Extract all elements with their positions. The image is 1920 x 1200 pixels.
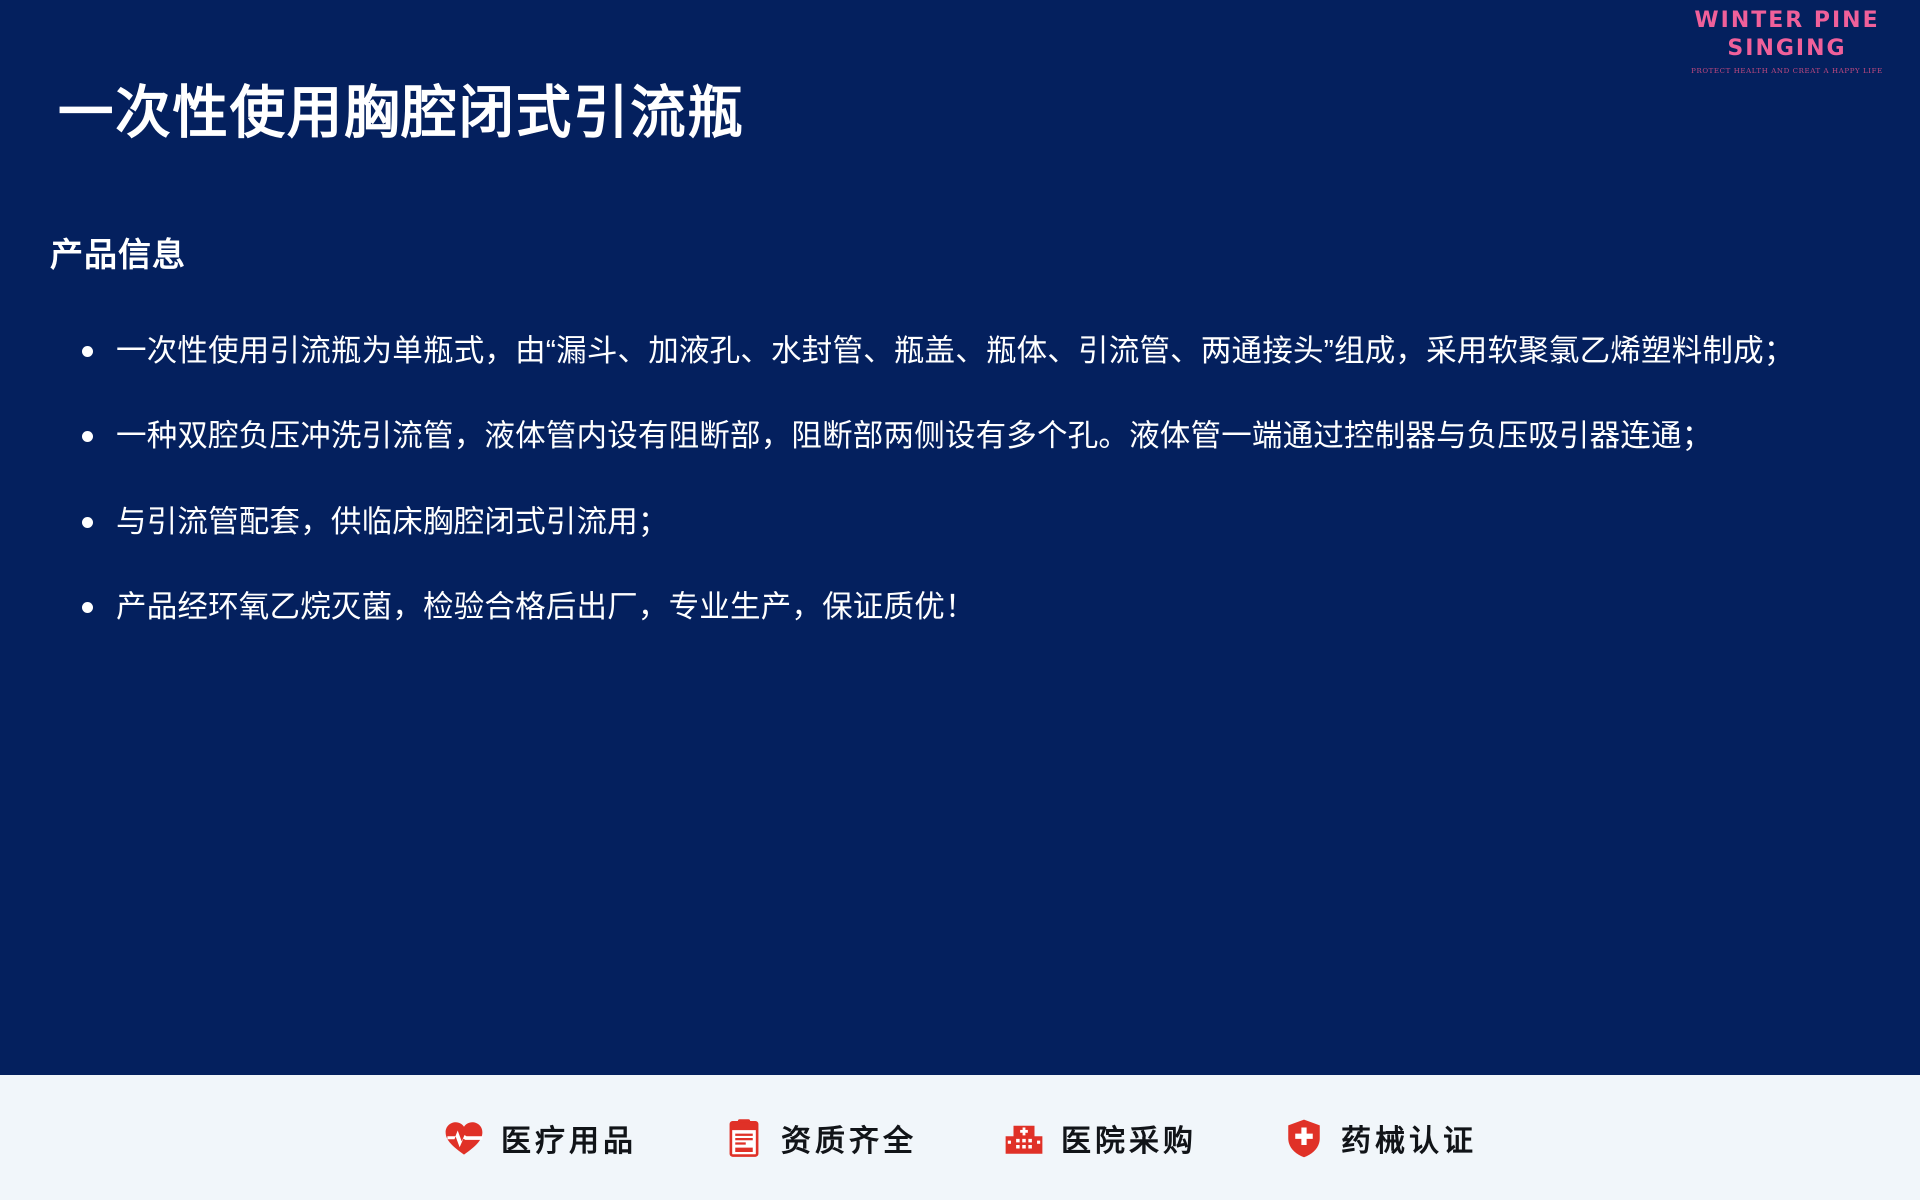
bullet-dot-icon bbox=[82, 602, 93, 613]
list-item: 产品经环氧乙烷灭菌，检验合格后出厂，专业生产，保证质优！ bbox=[58, 584, 1868, 631]
badge-label: 医院采购 bbox=[1061, 1116, 1197, 1160]
list-item: 与引流管配套，供临床胸腔闭式引流用； bbox=[58, 499, 1868, 546]
main-panel: WINTER PINE SINGING PROTECT HEALTH AND C… bbox=[0, 0, 1920, 1075]
badge-medical-supplies: 医疗用品 bbox=[443, 1116, 637, 1160]
brand-logo: WINTER PINE SINGING PROTECT HEALTH AND C… bbox=[1682, 10, 1892, 75]
hospital-icon bbox=[1003, 1117, 1045, 1159]
brand-line-2: SINGING bbox=[1682, 38, 1892, 60]
bullet-dot-icon bbox=[82, 517, 93, 528]
heart-pulse-icon bbox=[443, 1117, 485, 1159]
bullet-dot-icon bbox=[82, 346, 93, 357]
badge-device-certification: 药械认证 bbox=[1283, 1116, 1477, 1160]
badge-hospital-procurement: 医院采购 bbox=[1003, 1116, 1197, 1160]
list-item: 一种双腔负压冲洗引流管，液体管内设有阻断部，阻断部两侧设有多个孔。液体管一端通过… bbox=[58, 413, 1868, 460]
bullet-dot-icon bbox=[82, 431, 93, 442]
slide-root: WINTER PINE SINGING PROTECT HEALTH AND C… bbox=[0, 0, 1920, 1200]
product-info-list: 一次性使用引流瓶为单瓶式，由“漏斗、加液孔、水封管、瓶盖、瓶体、引流管、两通接头… bbox=[58, 328, 1868, 631]
shield-cross-icon bbox=[1283, 1117, 1325, 1159]
badge-qualifications: 资质齐全 bbox=[723, 1116, 917, 1160]
section-heading-product-info: 产品信息 bbox=[50, 235, 186, 275]
page-title: 一次性使用胸腔闭式引流瓶 bbox=[58, 82, 745, 146]
clipboard-icon bbox=[723, 1117, 765, 1159]
list-item-text: 产品经环氧乙烷灭菌，检验合格后出厂，专业生产，保证质优！ bbox=[116, 584, 1868, 631]
brand-tagline: PROTECT HEALTH AND CREAT A HAPPY LIFE bbox=[1682, 68, 1892, 74]
badge-label: 资质齐全 bbox=[781, 1116, 917, 1160]
list-item-text: 一次性使用引流瓶为单瓶式，由“漏斗、加液孔、水封管、瓶盖、瓶体、引流管、两通接头… bbox=[116, 328, 1868, 375]
badge-label: 药械认证 bbox=[1341, 1116, 1477, 1160]
footer-badge-bar: 医疗用品 资质齐全 bbox=[0, 1075, 1920, 1200]
list-item: 一次性使用引流瓶为单瓶式，由“漏斗、加液孔、水封管、瓶盖、瓶体、引流管、两通接头… bbox=[58, 328, 1868, 375]
list-item-text: 与引流管配套，供临床胸腔闭式引流用； bbox=[116, 499, 1868, 546]
badge-label: 医疗用品 bbox=[501, 1116, 637, 1160]
brand-line-1: WINTER PINE bbox=[1682, 10, 1892, 32]
list-item-text: 一种双腔负压冲洗引流管，液体管内设有阻断部，阻断部两侧设有多个孔。液体管一端通过… bbox=[116, 413, 1868, 460]
